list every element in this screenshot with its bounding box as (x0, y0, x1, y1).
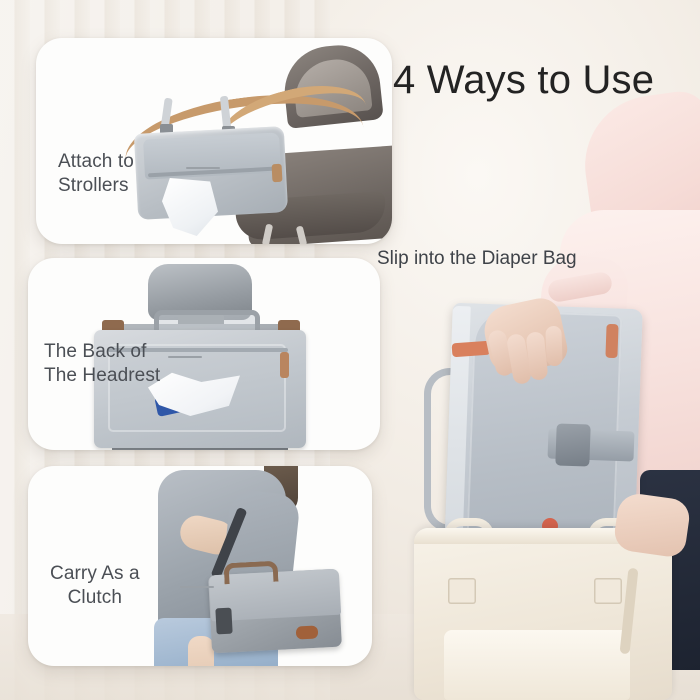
backpack-front-pocket-flap (444, 630, 630, 700)
backpack-handle-anchor-left (448, 578, 476, 604)
backpack-handle-anchor-right (594, 578, 622, 604)
card-label-attach-to-strollers: Attach to Strollers (58, 150, 134, 199)
tissue-sheet (162, 178, 218, 236)
callout-label-slip-into-diaper-bag: Slip into the Diaper Bag (377, 248, 577, 270)
infographic-canvas: 4 Ways to Use Attach to Strollers (0, 0, 700, 700)
baby-leg (188, 636, 214, 666)
hand-steadying-backpack (612, 491, 691, 558)
page-title: 4 Ways to Use (393, 58, 654, 103)
clutch-bag-brand-tag (296, 625, 319, 639)
card-attach-to-strollers[interactable]: Attach to Strollers (36, 38, 392, 244)
photo-stroller (36, 38, 392, 244)
clutch-bag-handle (223, 561, 278, 585)
connector-dash-strollers (186, 167, 220, 169)
card-back-of-headrest[interactable]: The Back of The Headrest (28, 258, 380, 450)
connector-dash-clutch (180, 586, 214, 588)
changing-bag-leather-tab (272, 164, 283, 182)
folded-pad-orange-tab-right (605, 324, 618, 358)
finger-4 (545, 326, 562, 367)
folded-pad-buckle (555, 423, 590, 466)
card-label-carry-as-clutch: Carry As a Clutch (50, 562, 140, 611)
changing-bag-leather-tab (280, 352, 289, 378)
clutch-bag-buckle (215, 608, 232, 635)
folded-pad-orange-tab (452, 341, 491, 358)
card-label-back-of-headrest: The Back of The Headrest (44, 340, 160, 389)
connector-dash-headrest (168, 356, 202, 358)
card-carry-as-clutch[interactable]: Carry As a Clutch (28, 466, 372, 666)
